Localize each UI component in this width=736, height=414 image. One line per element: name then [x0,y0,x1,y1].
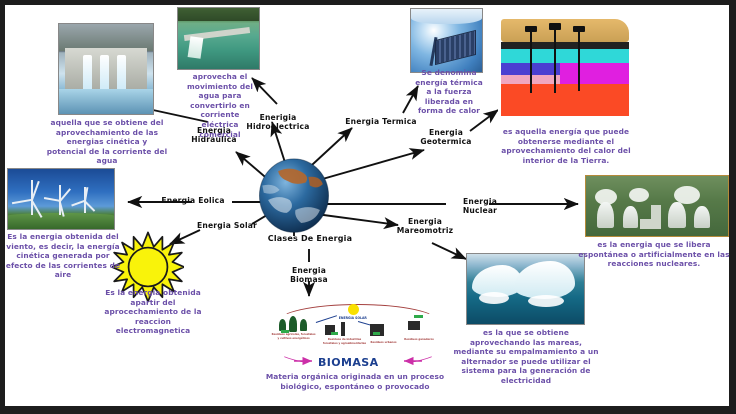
description-solar: Es la energia obtenida apartir del aproc… [104,288,202,336]
description-hidraulica: aquella que se obtiene del aprovechamien… [46,118,168,166]
branch-label-mareomotriz[interactable]: Energia Mareomotriz [394,217,456,236]
biomasa-arrows [262,352,454,370]
frame-border-left [0,0,5,414]
description-termica: Se denomina energía térmica a la fuerza … [412,68,486,116]
center-node-label[interactable]: Clases De Energia [262,234,358,243]
geothermal-earth-layers-diagram [498,15,632,120]
hydroelectric-dam-photo [58,23,154,115]
wind-turbines-photo [7,168,115,230]
solar-panel-sky-photo [410,8,483,73]
reservoir-dam-photo [177,7,260,70]
description-mareomotriz: es la que se obtiene aprovechando las ma… [452,328,600,386]
description-eolica: Es la energia obtenida del viento, es de… [2,232,124,280]
biomass-solar-label: ENERGIA SOLAR [339,316,367,320]
branch-label-eolica[interactable]: Energia Eolica [160,196,226,205]
branch-label-termica[interactable]: Energia Termica [345,117,417,126]
frame-border-right [729,0,736,414]
earth-globe-icon [258,158,330,234]
branch-label-biomasa[interactable]: Energia Biomasa [273,266,345,285]
mind-map-canvas: ENERGIA SOLAR Residuos agricolas, forest… [0,0,736,414]
frame-border-top [0,0,736,5]
branch-label-geotermica[interactable]: Energia Geotermica [417,128,475,147]
description-hidroelectrica: aprovecha el movimiento del agua para co… [181,72,259,139]
nuclear-power-plant-photo [585,175,729,237]
ocean-wave-photo [466,253,585,325]
description-biomasa: Materia orgánica originada en un proceso… [262,372,448,391]
description-geotermica: es aquella energía que puede obtenerse m… [500,127,632,165]
description-nuclear: es la energia que se libera espontánea o… [578,240,730,269]
frame-border-bottom [0,406,736,414]
branch-label-solar[interactable]: Energia Solar [196,221,258,230]
branch-label-nuclear[interactable]: Energia Nuclear [446,197,514,216]
